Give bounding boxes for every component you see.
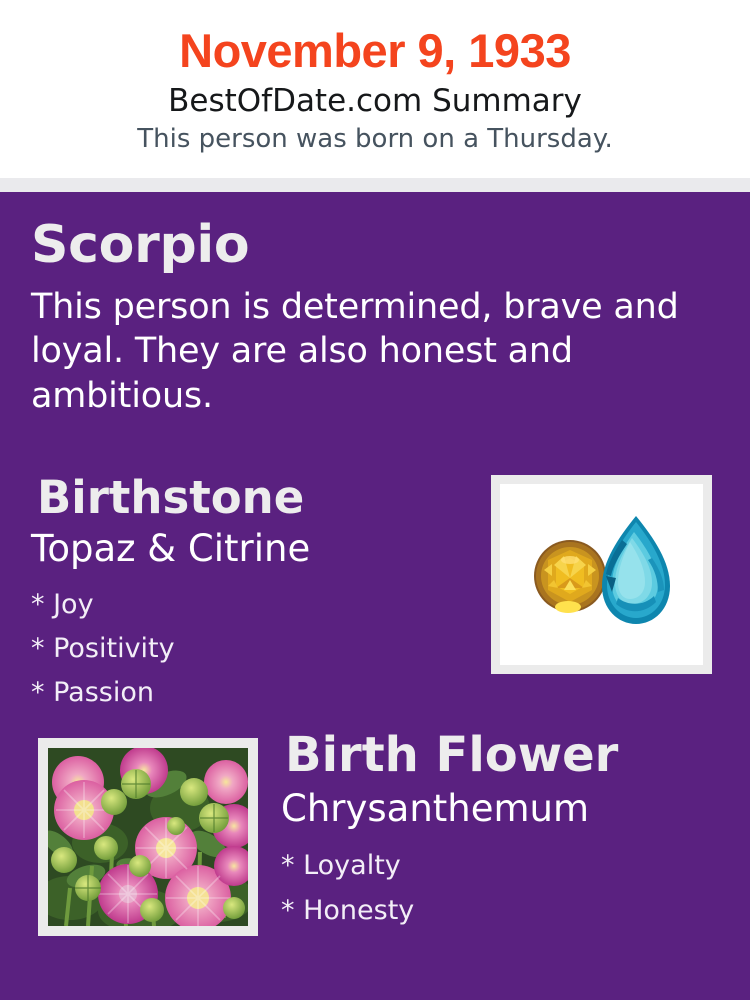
birthstone-trait-list: * Joy * Positivity * Passion [31,583,175,715]
header-divider [0,178,750,192]
list-item: * Loyalty [281,844,414,889]
zodiac-sign-title: Scorpio [31,218,249,273]
page-title-date: November 9, 1933 [0,0,750,78]
weekday-note: This person was born on a Thursday. [0,120,750,155]
summary-body: Scorpio This person is determined, brave… [0,192,750,1000]
chrysanthemum-flowers-icon [48,748,248,926]
list-item: * Passion [31,671,175,715]
birthflower-image-frame [38,738,258,936]
birthflower-image [48,748,248,926]
birthflower-heading: Birth Flower [285,730,618,780]
birthstone-heading: Birthstone [37,474,304,521]
header: November 9, 1933 BestOfDate.com Summary … [0,0,750,178]
list-item: * Joy [31,583,175,627]
zodiac-description: This person is determined, brave and loy… [31,285,696,418]
birthstone-image-frame [491,475,712,674]
birthflower-name: Chrysanthemum [281,789,589,830]
birthstone-image [500,484,703,665]
birthstone-name: Topaz & Citrine [31,529,310,570]
gemstones-icon [500,484,703,665]
list-item: * Positivity [31,627,175,671]
list-item: * Honesty [281,889,414,934]
site-summary-label: BestOfDate.com Summary [0,78,750,120]
birthflower-trait-list: * Loyalty * Honesty [281,844,414,934]
date-summary-card: November 9, 1933 BestOfDate.com Summary … [0,0,750,1000]
